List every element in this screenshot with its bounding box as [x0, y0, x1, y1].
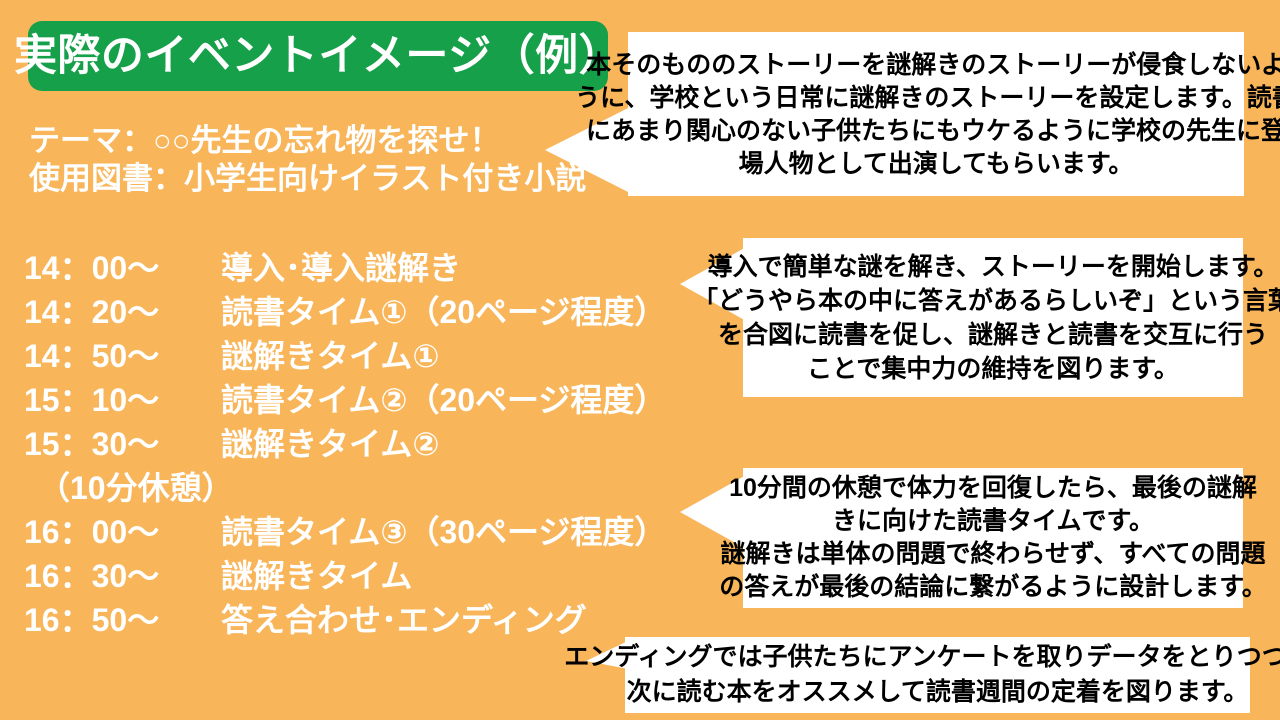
- callout-line: 場人物として出演してもらいます。: [739, 148, 1134, 181]
- schedule-time: 16：30〜: [24, 554, 221, 598]
- schedule-time: 15：10〜: [24, 378, 221, 422]
- schedule-label: 読書タイム①（20ページ程度）: [221, 290, 666, 334]
- callout-line: 謎解きは単体の問題で終わらせず、すべての問題: [721, 538, 1266, 571]
- callout-box-story-design: 本そのもののストーリーを謎解きのストーリーが侵食しないよ うに、学校という日常に…: [628, 32, 1244, 196]
- schedule-list: 14：00〜 導入･導入謎解き 14：20〜 読書タイム①（20ページ程度） 1…: [24, 246, 744, 642]
- callout-line: きに向けた読書タイムです。: [832, 505, 1154, 538]
- slide-title-pill: 実際のイベントイメージ（例）: [28, 21, 608, 91]
- schedule-time: 15：30〜: [24, 422, 221, 466]
- schedule-label: 謎解きタイム②: [221, 422, 439, 466]
- subtitle-line-book: 使用図書：小学生向けイラスト付き小説: [29, 160, 629, 198]
- schedule-time: 14：20〜: [24, 290, 221, 334]
- schedule-label: 読書タイム③（30ページ程度）: [221, 510, 666, 554]
- schedule-row: 14：20〜 読書タイム①（20ページ程度）: [24, 290, 744, 334]
- schedule-label: 謎解きタイム①: [221, 334, 439, 378]
- subtitle-block: テーマ：○○先生の忘れ物を探せ！ 使用図書：小学生向けイラスト付き小説: [29, 122, 629, 198]
- callout-line: 「どうやら本の中に答えがあるらしいぞ」という言葉: [693, 284, 1280, 318]
- subtitle-line-theme: テーマ：○○先生の忘れ物を探せ！: [29, 122, 629, 160]
- page-title: 実際のイベントイメージ（例）: [14, 35, 622, 78]
- schedule-row: 16：50〜 答え合わせ･エンディング: [24, 598, 744, 642]
- callout-line: 本そのもののストーリーを謎解きのストーリーが侵食しないよ: [586, 49, 1280, 82]
- callout-line: にあまり関心のない子供たちにもウケるように学校の先生に登: [586, 115, 1280, 148]
- callout-line: 導入で簡単な謎を解き、ストーリーを開始します。: [708, 250, 1279, 284]
- schedule-row-break: （10分休憩）: [24, 466, 744, 510]
- schedule-time: 16：50〜: [24, 598, 221, 642]
- callout-line: エンディングでは子供たちにアンケートを取りデータをとりつつ、: [564, 640, 1280, 675]
- schedule-break-label: （10分休憩）: [24, 466, 234, 510]
- schedule-time: 14：50〜: [24, 334, 221, 378]
- callout-line: 10分間の休憩で体力を回復したら、最後の謎解: [729, 472, 1257, 505]
- schedule-label: 読書タイム②（20ページ程度）: [221, 378, 666, 422]
- schedule-row: 14：00〜 導入･導入謎解き: [24, 246, 744, 290]
- callout-line: ことで集中力の維持を図ります。: [807, 352, 1179, 386]
- callout-box-ending-survey: エンディングでは子供たちにアンケートを取りデータをとりつつ、 次に読む本をオスス…: [625, 637, 1250, 713]
- schedule-label: 答え合わせ･エンディング: [221, 598, 587, 642]
- schedule-row: 14：50〜 謎解きタイム①: [24, 334, 744, 378]
- schedule-label: 謎解きタイム: [221, 554, 412, 598]
- callout-line: 次に読む本をオススメして読書週間の定着を図ります。: [627, 675, 1249, 710]
- callout-box-intro-reading: 導入で簡単な謎を解き、ストーリーを開始します。 「どうやら本の中に答えがあるらし…: [743, 238, 1243, 397]
- callout-line: うに、学校という日常に謎解きのストーリーを設定します。読書: [575, 82, 1280, 115]
- schedule-time: 16：00〜: [24, 510, 221, 554]
- schedule-row: 15：10〜 読書タイム②（20ページ程度）: [24, 378, 744, 422]
- schedule-time: 14：00〜: [24, 246, 221, 290]
- callout-line: の答えが最後の結論に繋がるように設計します。: [719, 571, 1267, 604]
- schedule-row: 15：30〜 謎解きタイム②: [24, 422, 744, 466]
- schedule-row: 16：30〜 謎解きタイム: [24, 554, 744, 598]
- schedule-label: 導入･導入謎解き: [221, 246, 461, 290]
- schedule-row: 16：00〜 読書タイム③（30ページ程度）: [24, 510, 744, 554]
- callout-line: を合図に読書を促し、謎解きと読書を交互に行う: [718, 318, 1268, 352]
- callout-box-break-final-puzzle: 10分間の休憩で体力を回復したら、最後の謎解 きに向けた読書タイムです。 謎解き…: [743, 468, 1243, 608]
- slide-canvas: 実際のイベントイメージ（例） テーマ：○○先生の忘れ物を探せ！ 使用図書：小学生…: [0, 0, 1280, 720]
